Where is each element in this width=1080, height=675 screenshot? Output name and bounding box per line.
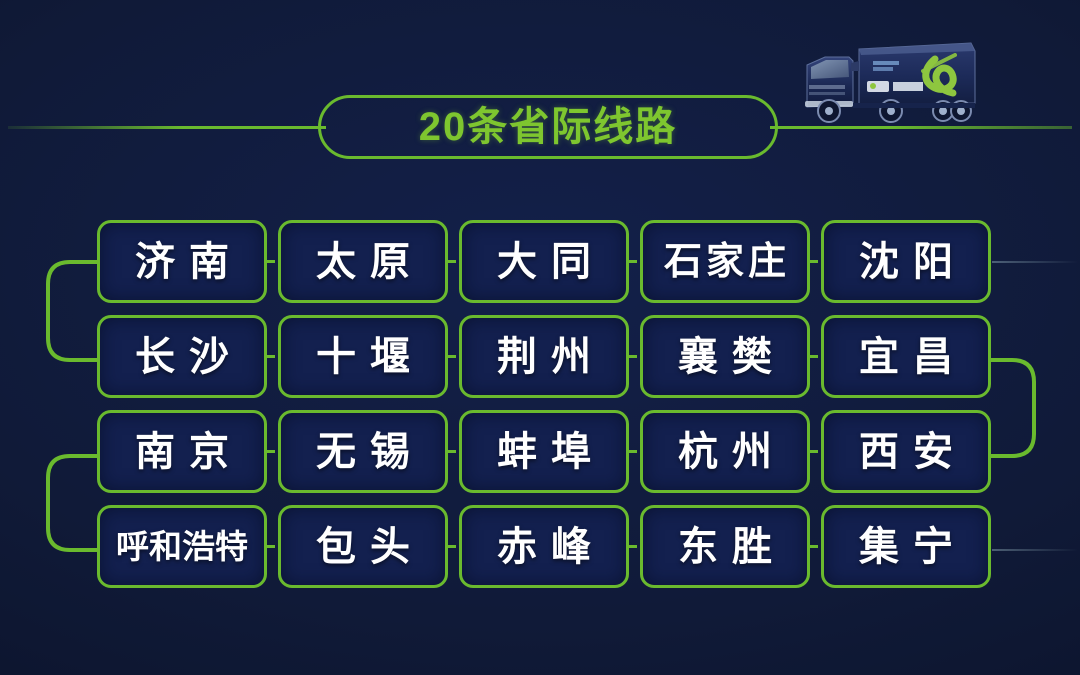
- tile-connector-nub: [626, 355, 637, 358]
- tile-connector-nub: [445, 260, 456, 263]
- city-tile[interactable]: 西安: [821, 410, 991, 493]
- city-label: 杭州: [664, 432, 786, 472]
- tile-connector-nub: [264, 355, 275, 358]
- city-label: 南京: [121, 432, 243, 472]
- city-label: 荆州: [483, 337, 605, 377]
- city-label: 沈阳: [845, 242, 967, 282]
- city-label: 十堰: [302, 337, 424, 377]
- city-tile[interactable]: 南京: [97, 410, 267, 493]
- city-tile[interactable]: 杭州: [640, 410, 810, 493]
- city-tile[interactable]: 赤峰: [459, 505, 629, 588]
- city-tile[interactable]: 包头: [278, 505, 448, 588]
- city-label: 石家庄: [660, 243, 790, 281]
- city-tile[interactable]: 集宁: [821, 505, 991, 588]
- city-tile[interactable]: 太原: [278, 220, 448, 303]
- city-label: 襄樊: [664, 337, 786, 377]
- page-title: 20条省际线路: [419, 107, 678, 147]
- city-label: 集宁: [845, 527, 967, 567]
- city-label: 长沙: [121, 337, 243, 377]
- tile-connector-nub: [807, 545, 818, 548]
- city-tile[interactable]: 沈阳: [821, 220, 991, 303]
- city-label: 西安: [845, 432, 967, 472]
- tile-connector-nub: [807, 450, 818, 453]
- city-label: 赤峰: [483, 527, 605, 567]
- city-label: 蚌埠: [483, 432, 605, 472]
- tile-connector-nub: [445, 450, 456, 453]
- city-tile[interactable]: 济南: [97, 220, 267, 303]
- city-tile[interactable]: 无锡: [278, 410, 448, 493]
- city-label: 包头: [302, 527, 424, 567]
- tile-connector-nub: [626, 450, 637, 453]
- tile-connector-nub: [445, 545, 456, 548]
- poster-canvas: 20条省际线路: [0, 0, 1080, 675]
- city-tile[interactable]: 长沙: [97, 315, 267, 398]
- city-grid: 济南太原大同石家庄沈阳长沙十堰荆州襄樊宜昌南京无锡蚌埠杭州西安呼和浩特包头赤峰东…: [97, 220, 989, 588]
- semi-truck-icon: [795, 25, 985, 130]
- city-tile[interactable]: 大同: [459, 220, 629, 303]
- city-label: 东胜: [664, 527, 786, 567]
- city-label: 济南: [121, 242, 243, 282]
- city-label: 太原: [302, 242, 424, 282]
- title-pill: 20条省际线路: [318, 95, 778, 159]
- tile-connector-nub: [626, 260, 637, 263]
- road-line-left: [8, 126, 326, 129]
- faint-tail-row1: [992, 261, 1078, 263]
- city-tile[interactable]: 宜昌: [821, 315, 991, 398]
- tile-connector-nub: [264, 450, 275, 453]
- faint-tail-row4: [992, 549, 1078, 551]
- city-tile[interactable]: 荆州: [459, 315, 629, 398]
- city-tile[interactable]: 蚌埠: [459, 410, 629, 493]
- city-label: 呼和浩特: [116, 530, 248, 563]
- city-tile[interactable]: 石家庄: [640, 220, 810, 303]
- city-label: 大同: [483, 242, 605, 282]
- city-tile[interactable]: 东胜: [640, 505, 810, 588]
- tile-connector-nub: [626, 545, 637, 548]
- city-label: 无锡: [302, 432, 424, 472]
- city-tile[interactable]: 襄樊: [640, 315, 810, 398]
- city-tile[interactable]: 呼和浩特: [97, 505, 267, 588]
- tile-connector-nub: [807, 260, 818, 263]
- tile-connector-nub: [445, 355, 456, 358]
- city-label: 宜昌: [845, 337, 967, 377]
- tile-connector-nub: [264, 260, 275, 263]
- tile-connector-nub: [264, 545, 275, 548]
- city-tile[interactable]: 十堰: [278, 315, 448, 398]
- tile-connector-nub: [807, 355, 818, 358]
